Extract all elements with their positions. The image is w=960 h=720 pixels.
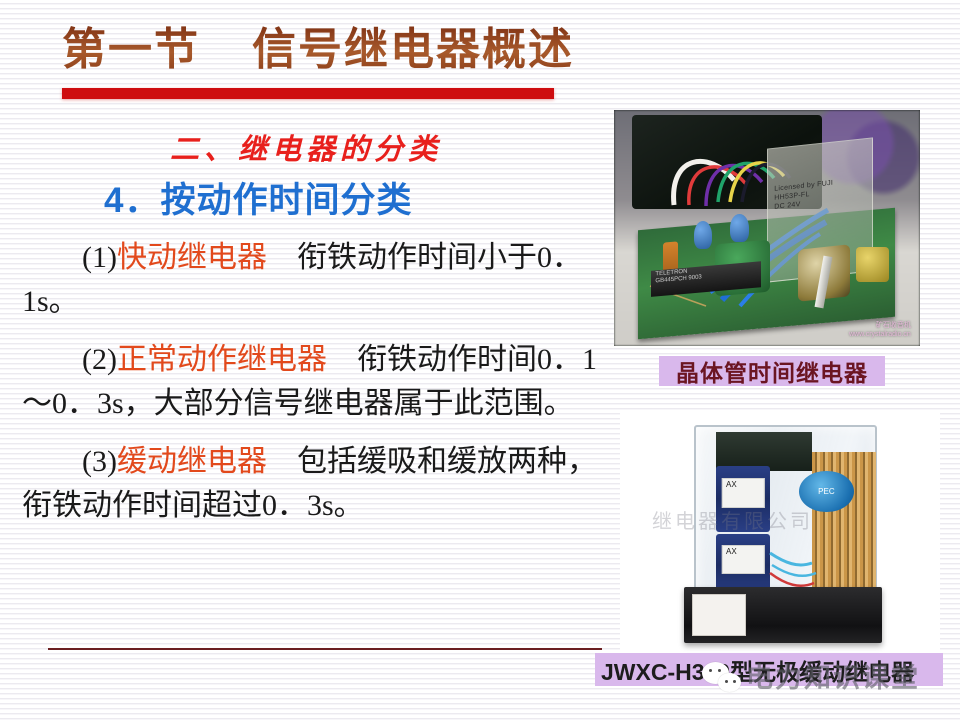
section-heading: 4．按动作时间分类 (104, 172, 412, 223)
ic-chip-label: TELETRON GB445PCH 9003 (655, 267, 701, 285)
paragraph-2-term: 正常动作继电器 (117, 343, 327, 376)
paragraph-1-marker: (1) (82, 241, 117, 274)
body-text-column: (1)快动继电器 衔铁动作时间小于0．1s。 (2)正常动作继电器 衔铁动作时间… (22, 236, 622, 543)
paragraph-2-marker: (2) (82, 343, 117, 376)
capacitor-blue (694, 221, 712, 249)
caption-transistor-time-relay: 晶体管时间继电器 (659, 356, 885, 386)
subheading: 二、继电器的分类 (0, 126, 612, 168)
paragraph-3: (3)缓动继电器 包括缓吸和缓放两种，衔铁动作时间超过0．3s。 (22, 440, 622, 528)
capacitor-blue-2 (730, 214, 748, 242)
slide-canvas: 第一节 信号继电器概述 二、继电器的分类 4．按动作时间分类 (1)快动继电器 … (0, 0, 960, 720)
relay-base-nameplate (692, 594, 746, 636)
photo-company-watermark: 继电器有限公司 (652, 505, 914, 534)
page-title: 第一节 信号继电器概述 (62, 22, 762, 77)
paragraph-2: (2)正常动作继电器 衔铁动作时间0．1～0．3s，大部分信号继电器属于此范围。 (22, 338, 622, 426)
photo-transistor-time-relay: Licensed by FUJI HH53P-FL DC 24V TELETRO… (614, 110, 920, 346)
title-underline-bar (62, 88, 554, 99)
caption-slow-acting-relay: JWXC-H310型无极缓动继电器 (595, 653, 943, 686)
footer-divider (48, 648, 602, 650)
paragraph-1-term: 快动继电器 (117, 241, 267, 274)
paragraph-3-marker: (3) (82, 445, 117, 478)
relay-housing-labels: Licensed by FUJI HH53P-FL DC 24V (774, 176, 866, 212)
photo-watermark-line2: www.crystalradio.cn (849, 331, 911, 339)
photo-slow-acting-relay: AX AX PEC 继电器有限公司 (620, 413, 940, 655)
paragraph-3-term: 缓动继电器 (117, 445, 267, 478)
relay-base (684, 587, 882, 643)
photo-source-watermark: 矿石收音机 www.crystalradio.cn (849, 322, 911, 339)
capacitor-yellow (856, 247, 890, 282)
photo-watermark-line1: 矿石收音机 (849, 322, 911, 330)
paragraph-1: (1)快动继电器 衔铁动作时间小于0．1s。 (22, 236, 622, 324)
